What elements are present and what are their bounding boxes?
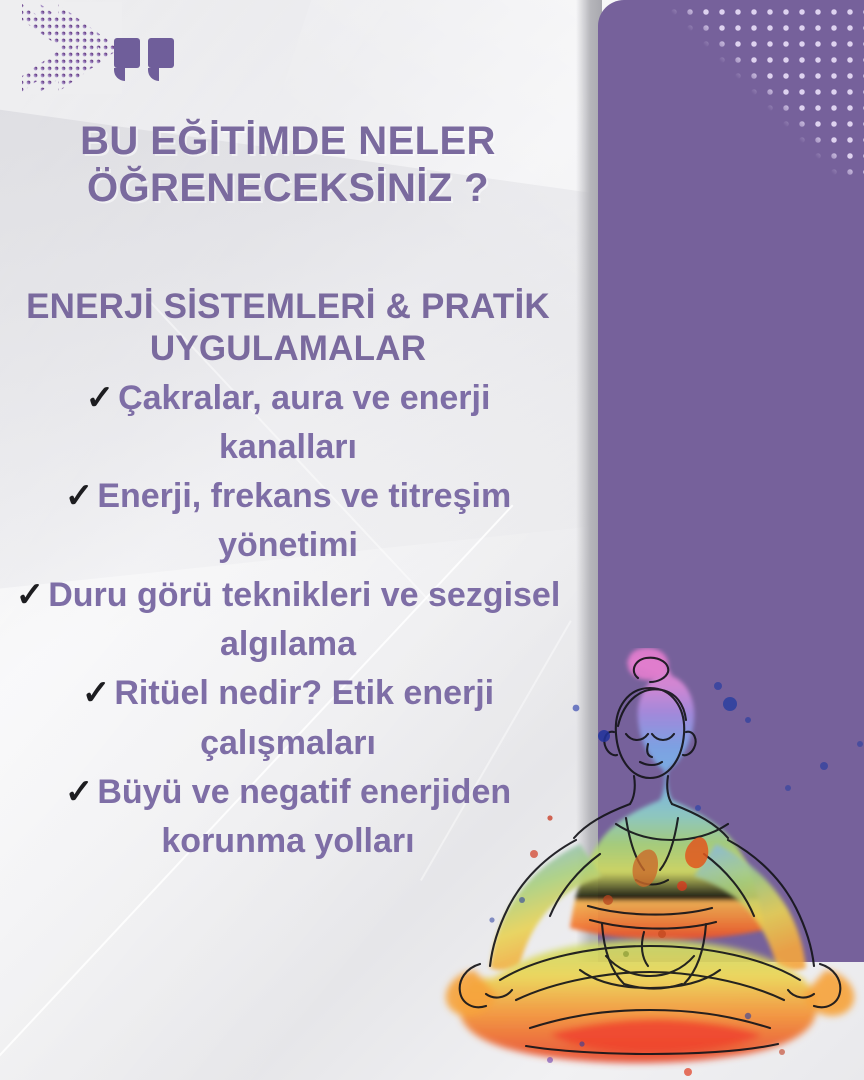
check-icon: ✓ (82, 674, 111, 712)
check-icon: ✓ (65, 477, 94, 515)
list-item: ✓Duru görü teknikleri ve sezgisel algıla… (14, 571, 562, 670)
check-icon: ✓ (86, 379, 115, 417)
list-item-label: Çakralar, aura ve enerji kanalları (118, 379, 490, 466)
section-subtitle: ENERJİ SİSTEMLERİ & PRATİK UYGULAMALAR (14, 286, 562, 370)
dot-pattern-icon (664, 0, 864, 180)
list-item: ✓Çakralar, aura ve enerji kanalları (14, 374, 562, 473)
list-item: ✓Ritüel nedir? Etik enerji çalışmaları (14, 669, 562, 768)
list-item-label: Büyü ve negatif enerjiden korunma yollar… (97, 773, 511, 860)
check-icon: ✓ (16, 576, 45, 614)
feature-list: ✓Çakralar, aura ve enerji kanalları ✓Ene… (14, 374, 562, 867)
page-title: BU EĞİTİMDE NELER ÖĞRENECEKSİNİZ ? (14, 118, 562, 212)
list-item: ✓Enerji, frekans ve titreşim yönetimi (14, 472, 562, 571)
list-item-label: Duru görü teknikleri ve sezgisel algılam… (48, 576, 560, 663)
poster-canvas: BU EĞİTİMDE NELER ÖĞRENECEKSİNİZ ? ENERJ… (0, 0, 864, 1080)
purple-side-panel (598, 0, 864, 962)
list-item-label: Enerji, frekans ve titreşim yönetimi (97, 477, 511, 564)
content-column: BU EĞİTİMDE NELER ÖĞRENECEKSİNİZ ? ENERJ… (0, 0, 576, 1080)
check-icon: ✓ (65, 773, 94, 811)
list-item: ✓Büyü ve negatif enerjiden korunma yolla… (14, 768, 562, 867)
list-item-label: Ritüel nedir? Etik enerji çalışmaları (114, 674, 494, 761)
